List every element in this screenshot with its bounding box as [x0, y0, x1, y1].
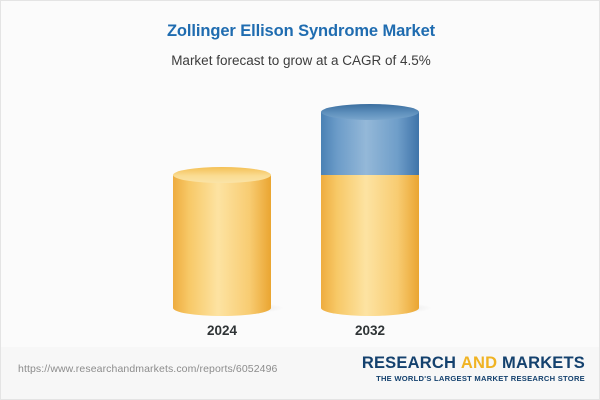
- bar-segment-base-cap-2024: [173, 167, 271, 183]
- category-label-2024: 2024: [142, 323, 302, 338]
- brand-logo: RESEARCH AND MARKETS THE WORLD'S LARGEST…: [362, 355, 585, 383]
- source-url-link[interactable]: https://www.researchandmarkets.com/repor…: [18, 363, 277, 375]
- footer: https://www.researchandmarkets.com/repor…: [1, 347, 600, 399]
- bar-segment-base-2032: [321, 175, 419, 308]
- bar-segment-growth-body-2032: [321, 112, 419, 175]
- bar-segment-base-body-2032: [321, 175, 419, 308]
- brand-word-and: AND: [461, 354, 497, 372]
- plot-area: USD 1.4 Billion 2024 USD 2 Billion: [1, 81, 600, 346]
- bar-segment-base-body-2024: [173, 175, 271, 308]
- brand-word-markets: MARKETS: [502, 354, 585, 372]
- brand-word-research: RESEARCH: [362, 354, 456, 372]
- category-label-2032: 2032: [290, 323, 450, 338]
- bar-cylinder-2032: [321, 112, 419, 308]
- chart-card: Zollinger Ellison Syndrome Market Market…: [0, 0, 600, 400]
- bar-segment-growth-cap-2032: [321, 104, 419, 120]
- bar-cylinder-2024: [173, 175, 271, 308]
- brand-tagline: THE WORLD'S LARGEST MARKET RESEARCH STOR…: [362, 374, 585, 383]
- brand-wordmark: RESEARCH AND MARKETS: [362, 355, 585, 372]
- bar-segment-base-2024: [173, 175, 271, 308]
- chart-subtitle: Market forecast to grow at a CAGR of 4.5…: [1, 53, 600, 68]
- bar-segment-growth-2032: [321, 112, 419, 175]
- page-title: Zollinger Ellison Syndrome Market: [1, 22, 600, 41]
